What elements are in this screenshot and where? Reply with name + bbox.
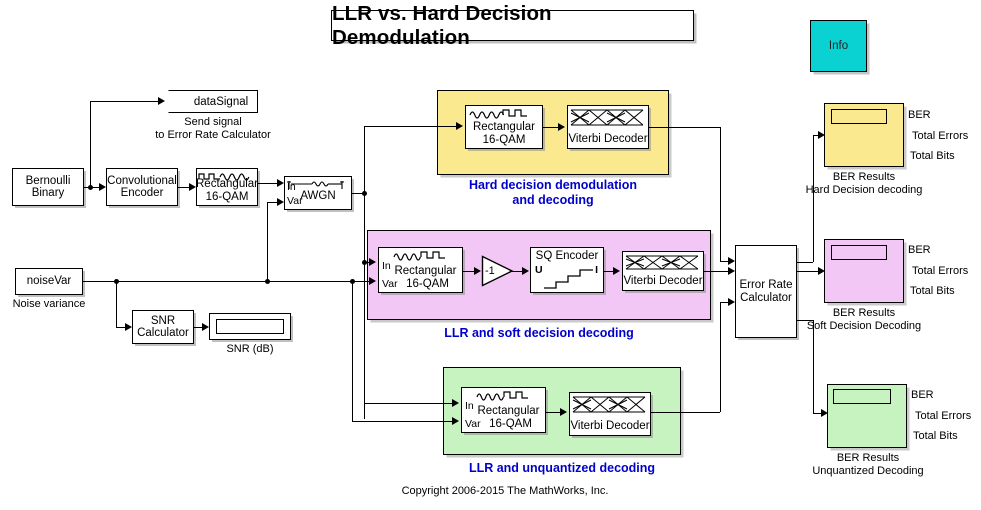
arrow-hard-viterbi-in <box>558 123 565 131</box>
bernoulli-line2: Binary <box>32 187 65 200</box>
info-button[interactable]: Info <box>810 20 867 72</box>
unquantized-demod-line2: 16-QAM <box>489 418 532 431</box>
ber-results-panel-unquantized[interactable] <box>827 384 907 448</box>
data-signal-tag-label: dataSignal <box>194 96 248 108</box>
wire-modulator-to-awgn <box>258 183 277 184</box>
ber-caption-unquantized: BER Results Unquantized Decoding <box>793 452 943 478</box>
junction-awgn-bus-main <box>362 191 367 196</box>
wire-unq-erc-h <box>720 302 728 303</box>
ber-output-label-hard-2: Total Bits <box>910 150 955 162</box>
wire-noisevar-out <box>83 281 369 282</box>
wire-erc-out-unq <box>797 320 813 321</box>
wire-snr-to-display <box>194 327 202 328</box>
arrow-ber-unq-in <box>821 409 828 417</box>
hard-demod-line1: Rectangular <box>473 121 535 134</box>
snr-display-block[interactable] <box>209 313 291 340</box>
ber-caption-soft-line2: Soft Decision Decoding <box>789 320 939 333</box>
ber-caption-unq-line2: Unquantized Decoding <box>793 465 943 478</box>
awgn-port-in: In <box>287 182 296 193</box>
unquantized-label-line1: LLR and unquantized decoding <box>443 461 681 476</box>
ber-results-panel-hard[interactable] <box>824 103 904 167</box>
hard-decision-label-line2: and decoding <box>437 193 669 208</box>
error-rate-line2: Calculator <box>740 292 792 305</box>
unquantized-demod-port-var: Var <box>465 419 481 430</box>
arrow-encoder-in <box>99 183 106 191</box>
qam-modulator-block[interactable]: Rectangular 16-QAM <box>196 168 258 206</box>
noise-variance-caption: Noise variance <box>9 298 89 311</box>
ber-output-label-hard-0: BER <box>908 109 931 121</box>
unquantized-viterbi-label: Viterbi Decoder <box>570 420 649 433</box>
arrow-snr-display-in <box>202 323 209 331</box>
arrow-soft-demod-in <box>369 258 376 266</box>
copyright-text: Copyright 2006-2015 The MathWorks, Inc. <box>402 485 609 497</box>
arrow-awgn-in <box>277 179 284 187</box>
data-signal-note-line2: to Error Rate Calculator <box>133 129 293 142</box>
wire-hard-demod-to-viterbi <box>543 127 558 128</box>
wire-soft-viterbi-to-erc <box>704 271 728 272</box>
trellis-icon <box>569 107 647 128</box>
model-title: LLR vs. Hard Decision Demodulation <box>331 10 694 41</box>
conv-encoder-line2: Encoder <box>121 187 164 200</box>
arrow-unq-viterbi-in <box>560 408 567 416</box>
qam-demodulator-icon <box>467 107 541 121</box>
soft-decision-demod-block[interactable]: In Var Rectangular 16-QAM <box>378 247 463 293</box>
ber-output-label-hard-1: Total Errors <box>912 130 968 142</box>
ber-caption-hard-line2: Hard Decision decoding <box>789 184 939 197</box>
qam-demodulator-icon <box>476 389 546 403</box>
sq-encoder-block[interactable]: SQ Encoder U I <box>530 247 604 293</box>
arrow-erc-in-1 <box>728 257 735 265</box>
unquantized-area-label: LLR and unquantized decoding <box>443 461 681 476</box>
wire-unq-to-erc <box>720 302 721 412</box>
error-rate-line1: Error Rate <box>739 279 792 292</box>
snr-calculator-block[interactable]: SNR Calculator <box>132 310 194 344</box>
ber-output-label-soft-2: Total Bits <box>910 285 955 297</box>
wire-noisevar-to-unq-var <box>352 281 353 421</box>
noise-var-label: noiseVar <box>27 275 72 288</box>
wire-branch-to-datasignal <box>90 101 158 102</box>
arrow-hard-demod-in <box>456 122 463 130</box>
wire-erc-out-unq-v <box>813 320 814 413</box>
arrow-erc-in-2 <box>728 267 735 275</box>
trellis-icon <box>624 253 702 272</box>
ber-caption-hard-line1: BER Results <box>789 171 939 184</box>
trellis-icon <box>571 394 649 415</box>
wire-erc-unq-h <box>813 413 821 414</box>
arrow-datasignal-in <box>158 97 165 105</box>
ber-value-field-soft <box>831 245 887 260</box>
wire-bus-to-unq-demod <box>364 403 452 404</box>
soft-demod-line2: 16-QAM <box>406 278 449 291</box>
ber-output-label-unq-2: Total Bits <box>913 430 958 442</box>
wire-encoder-to-modulator <box>178 187 189 188</box>
sq-encoder-port-u: U <box>535 265 543 276</box>
data-signal-note: Send signal to Error Rate Calculator <box>133 116 293 142</box>
unquantized-demod-line1: Rectangular <box>477 405 539 418</box>
info-button-label: Info <box>829 40 848 52</box>
sq-encoder-title: SQ Encoder <box>536 250 599 263</box>
arrow-modulator-in <box>189 183 196 191</box>
soft-demod-line1: Rectangular <box>394 265 456 278</box>
wire-bernoulli-branch-up <box>90 101 91 187</box>
arrow-snr-calculator-in <box>125 323 132 331</box>
soft-demod-port-var: Var <box>382 279 398 290</box>
arrow-soft-demod-var-in <box>369 277 376 285</box>
wire-noisevar-unq-h <box>352 421 452 422</box>
ber-value-field-unquantized <box>833 389 891 404</box>
hard-demod-line2: 16-QAM <box>483 134 526 147</box>
arrow-ber-soft-in <box>818 267 825 275</box>
error-rate-calculator-block[interactable]: Error Rate Calculator <box>735 245 797 338</box>
arrow-unq-demod-var-in <box>452 417 459 425</box>
gain-minus-one-block[interactable]: -1 <box>481 255 514 287</box>
data-signal-goto-tag[interactable]: dataSignal <box>168 90 258 113</box>
ber-caption-unq-line1: BER Results <box>793 452 943 465</box>
qam-modulator-icon <box>198 170 256 183</box>
ber-output-label-soft-0: BER <box>908 244 931 256</box>
hard-viterbi-label: Viterbi Decoder <box>568 133 647 146</box>
snr-display-caption-text: SNR (dB) <box>226 343 273 355</box>
ber-caption-soft-line1: BER Results <box>789 307 939 320</box>
soft-decision-viterbi-block[interactable]: Viterbi Decoder <box>622 251 704 291</box>
arrow-unq-demod-in <box>452 399 459 407</box>
arrow-gain-in <box>474 267 481 275</box>
hard-decision-area-label: Hard decision demodulation and decoding <box>437 178 669 208</box>
wire-awgn-var-stub <box>267 202 279 203</box>
awgn-channel-block[interactable]: In Var AWGN <box>284 176 352 210</box>
wire-erc-out-hard-v <box>813 135 814 262</box>
arrow-sq-encoder-in <box>522 267 529 275</box>
wire-hard-viterbi-out <box>649 127 720 128</box>
ber-output-label-soft-1: Total Errors <box>912 265 968 277</box>
awgn-label: AWGN <box>300 190 335 203</box>
wire-erc-out-soft <box>797 271 818 272</box>
simulink-model-canvas[interactable]: LLR vs. Hard Decision Demodulation Info … <box>0 0 981 510</box>
arrow-erc-in-3 <box>728 298 735 306</box>
sq-encoder-port-i: I <box>595 265 598 276</box>
hard-decision-label-line1: Hard decision demodulation <box>437 178 669 193</box>
wire-hard-to-erc <box>720 127 721 261</box>
hard-decision-demod-block[interactable]: Rectangular 16-QAM <box>465 105 543 149</box>
unquantized-viterbi-block[interactable]: Viterbi Decoder <box>569 392 651 436</box>
unquantized-demod-block[interactable]: In Var Rectangular 16-QAM <box>461 387 546 433</box>
bernoulli-line1: Bernoulli <box>26 175 71 188</box>
wire-unq-demod-to-viterbi <box>546 412 560 413</box>
soft-decision-area-label: LLR and soft decision decoding <box>367 326 711 341</box>
ber-output-label-unq-1: Total Errors <box>915 410 971 422</box>
ber-results-panel-soft[interactable] <box>824 239 904 303</box>
soft-viterbi-label: Viterbi Decoder <box>623 275 702 288</box>
awgn-port-var: Var <box>287 196 303 207</box>
data-signal-note-line1: Send signal <box>133 116 293 129</box>
arrow-soft-viterbi-in <box>613 267 620 275</box>
wire-erc-out-hard <box>797 262 813 263</box>
wire-gain-to-sq <box>512 271 522 272</box>
arrow-ber-hard-in <box>818 131 825 139</box>
unquantized-demod-port-in: In <box>465 401 474 412</box>
wire-soft-demod-to-gain <box>463 271 474 272</box>
wire-awgn-bus <box>364 126 365 419</box>
qam-demodulator-icon <box>393 249 463 263</box>
wire-bus-to-hard-demod <box>364 126 456 127</box>
conv-encoder-line1: Convolutional <box>107 175 177 188</box>
bernoulli-binary-block[interactable]: Bernoulli Binary <box>12 168 84 206</box>
wire-noisevar-snr-h <box>116 327 125 328</box>
soft-decision-label-line1: LLR and soft decision decoding <box>367 326 711 341</box>
quantizer-staircase-icon <box>543 266 595 291</box>
model-title-text: LLR vs. Hard Decision Demodulation <box>332 2 693 50</box>
snr-calculator-line2: Calculator <box>137 327 189 340</box>
noise-variance-caption-text: Noise variance <box>13 298 86 310</box>
noise-var-constant-block[interactable]: noiseVar <box>15 268 83 295</box>
snr-display-caption: SNR (dB) <box>210 343 290 356</box>
snr-display-field <box>216 319 284 334</box>
qam-modulator-line2: 16-QAM <box>206 191 249 204</box>
ber-caption-hard: BER Results Hard Decision decoding <box>789 171 939 197</box>
wire-noisevar-to-snr <box>116 281 117 327</box>
ber-value-field-hard <box>831 109 887 124</box>
convolutional-encoder-block[interactable]: Convolutional Encoder <box>106 168 178 206</box>
snr-calculator-line1: SNR <box>151 315 175 328</box>
soft-demod-port-in: In <box>382 261 391 272</box>
wire-sq-to-viterbi <box>604 271 613 272</box>
wire-hard-erc-h <box>720 261 728 262</box>
wire-noise-to-awgn-var <box>267 202 268 281</box>
hard-decision-viterbi-block[interactable]: Viterbi Decoder <box>567 105 649 149</box>
ber-output-label-unq-0: BER <box>911 389 934 401</box>
wire-unq-viterbi-out <box>651 412 720 413</box>
copyright-note: Copyright 2006-2015 The MathWorks, Inc. <box>380 485 630 498</box>
gain-value-label: -1 <box>485 265 495 277</box>
